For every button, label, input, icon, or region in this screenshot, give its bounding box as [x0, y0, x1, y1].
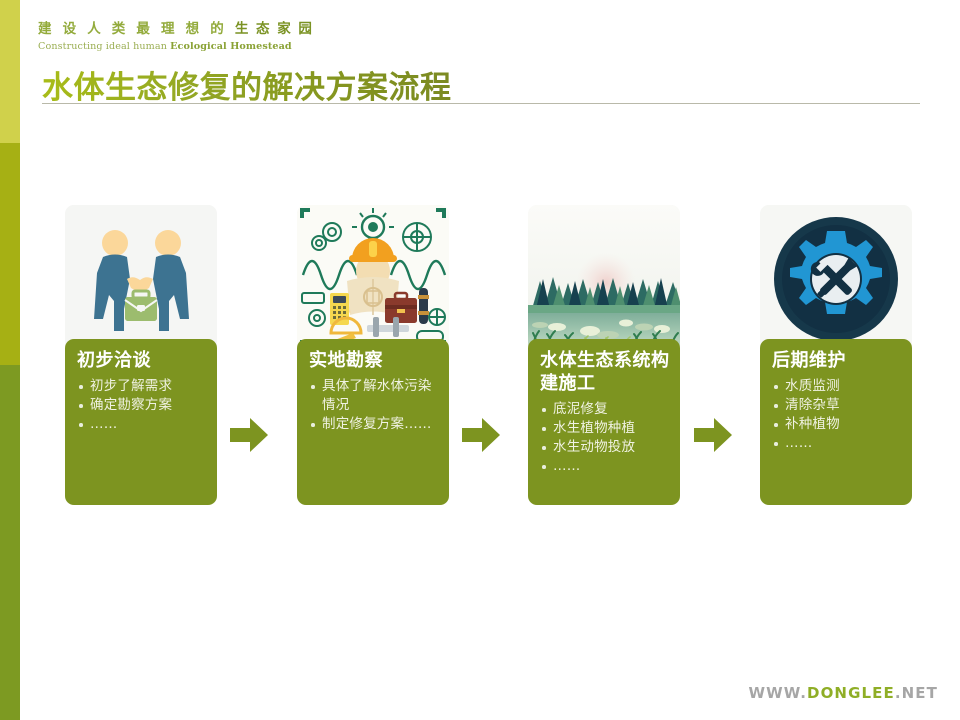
list-item: 具体了解水体污染情况	[309, 377, 439, 415]
list-item: 初步了解需求	[77, 377, 207, 396]
flow-step-bullets-4: 水质监测 清除杂草 补种植物 ……	[772, 377, 902, 453]
list-item: ……	[77, 415, 207, 434]
handshake-icon	[65, 205, 217, 353]
flow-step-bullets-1: 初步了解需求 确定勘察方案 ……	[77, 377, 207, 434]
flow-step-bullets-2: 具体了解水体污染情况 制定修复方案……	[309, 377, 439, 434]
flow-step-body-4: 后期维护 水质监测 清除杂草 补种植物 ……	[760, 339, 912, 505]
flow-step-title-4: 后期维护	[772, 349, 902, 372]
engineer-survey-icon	[297, 205, 449, 353]
lake-forest-icon	[528, 205, 680, 353]
list-item: ……	[772, 434, 902, 453]
footer-url-prefix: WWW.	[749, 684, 808, 702]
flow-step-card-2[interactable]: 实地勘察 具体了解水体污染情况 制定修复方案……	[297, 205, 449, 505]
flow-step-card-1[interactable]: 初步洽谈 初步了解需求 确定勘察方案 ……	[65, 205, 217, 505]
process-flow: 初步洽谈 初步了解需求 确定勘察方案 ……	[0, 0, 960, 720]
list-item: 清除杂草	[772, 396, 902, 415]
list-item: 水生动物投放	[540, 438, 670, 457]
flow-step-card-4[interactable]: 后期维护 水质监测 清除杂草 补种植物 ……	[760, 205, 912, 505]
flow-arrow-2	[462, 418, 500, 452]
flow-step-title-1: 初步洽谈	[77, 349, 207, 372]
flow-step-body-1: 初步洽谈 初步了解需求 确定勘察方案 ……	[65, 339, 217, 505]
list-item: 底泥修复	[540, 400, 670, 419]
footer-url-suffix: .NET	[895, 684, 938, 702]
list-item: 水质监测	[772, 377, 902, 396]
footer-url-brand: DONGLEE	[807, 684, 895, 702]
flow-step-bullets-3: 底泥修复 水生植物种植 水生动物投放 ……	[540, 400, 670, 476]
list-item: 制定修复方案……	[309, 415, 439, 434]
flow-step-title-2: 实地勘察	[309, 349, 439, 372]
flow-step-title-3: 水体生态系统构建施工	[540, 349, 670, 395]
list-item: ……	[540, 457, 670, 476]
list-item: 补种植物	[772, 415, 902, 434]
footer-url: WWW.DONGLEE.NET	[749, 684, 938, 702]
flow-arrow-1	[230, 418, 268, 452]
slide-root: 建 设 人 类 最 理 想 的 生 态 家 园 Constructing ide…	[0, 0, 960, 720]
flow-step-body-2: 实地勘察 具体了解水体污染情况 制定修复方案……	[297, 339, 449, 505]
flow-step-body-3: 水体生态系统构建施工 底泥修复 水生植物种植 水生动物投放 ……	[528, 339, 680, 505]
list-item: 确定勘察方案	[77, 396, 207, 415]
flow-arrow-3	[694, 418, 732, 452]
flow-step-card-3[interactable]: 水体生态系统构建施工 底泥修复 水生植物种植 水生动物投放 ……	[528, 205, 680, 505]
list-item: 水生植物种植	[540, 419, 670, 438]
gear-tools-icon	[760, 205, 912, 353]
